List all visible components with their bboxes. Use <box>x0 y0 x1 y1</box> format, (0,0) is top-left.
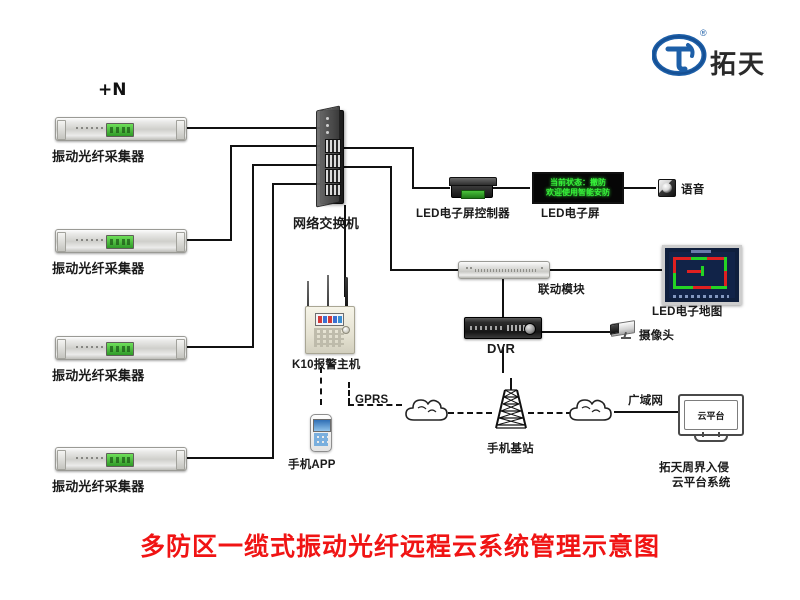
dvr-device[interactable] <box>464 317 542 339</box>
rack-ear-right <box>176 450 185 470</box>
base-station-icon <box>488 378 534 434</box>
collector-label-3: 振动光纤采集器 <box>52 365 144 384</box>
monitor-stand <box>694 436 728 442</box>
alarm-host-lcd <box>315 313 344 326</box>
switch-port-row-4 <box>325 184 341 196</box>
wire-collector2-seg1 <box>184 239 232 241</box>
wire-switch-link-seg3 <box>390 269 458 271</box>
network-switch-device[interactable] <box>320 110 344 204</box>
wire-ledctl-ledscreen <box>492 187 530 189</box>
collector-lcd-1 <box>106 123 134 137</box>
tuotian-logo-icon <box>652 32 708 78</box>
led-map-device[interactable] <box>662 245 742 305</box>
wire-collector4-seg2 <box>272 184 274 459</box>
collector-device-3[interactable] <box>55 336 187 360</box>
led-screen-device[interactable]: 当前状态：撤防 欢迎使用智能安防 <box>532 172 624 204</box>
led-screen-line2: 欢迎使用智能安防 <box>546 188 610 198</box>
monitor-screen-text: 云平台 <box>697 409 724 422</box>
dvr-display-strip <box>470 326 504 330</box>
cloud-icon-2 <box>568 392 616 430</box>
camera-lens <box>610 323 619 334</box>
collector-label-1: 振动光纤采集器 <box>52 146 144 165</box>
wire-switch-link-seg1 <box>342 166 392 168</box>
speaker-icon[interactable] <box>658 179 676 197</box>
cloud-platform-monitor[interactable]: 云平台 <box>678 394 740 440</box>
module-vent-strip <box>475 269 537 272</box>
cloud-platform-label-line1: 拓天周界入侵 <box>659 459 729 475</box>
cloud-platform-label-line2: 云平台系统 <box>672 474 731 490</box>
diagram-title: 多防区一缆式振动光纤远程云系统管理示意图 <box>0 527 800 563</box>
alarm-host-keypad[interactable] <box>314 328 344 347</box>
switch-port-row-2 <box>325 154 341 168</box>
wire-collector4-seg1 <box>184 457 274 459</box>
collector-label-4: 振动光纤采集器 <box>52 476 144 495</box>
alarm-host-device[interactable] <box>305 306 355 354</box>
dvr-jog-dial <box>524 323 536 335</box>
collector-device-4[interactable] <box>55 447 187 471</box>
wire-wan-monitor <box>614 411 678 413</box>
dvr-label: DVR <box>487 341 515 356</box>
map-title-bar <box>691 250 711 253</box>
controller-lid <box>449 177 497 186</box>
rack-ear-right <box>176 339 185 359</box>
map-legend-bar <box>673 295 729 298</box>
wire-alarmhost-phone-dashed <box>320 367 322 405</box>
collector-label-2: 振动光纤采集器 <box>52 258 144 277</box>
rack-ear-right <box>176 232 185 252</box>
led-controller-label: LED电子屏控制器 <box>416 205 510 221</box>
led-screen-line1: 当前状态：撤防 <box>550 178 606 188</box>
wire-dvr-camera <box>540 331 610 333</box>
rack-ear-left <box>57 339 66 359</box>
phone-app-device[interactable] <box>310 414 332 452</box>
voice-label: 语音 <box>681 181 704 197</box>
gprs-link-label: GPRS <box>355 394 388 406</box>
rack-ear-left <box>57 120 66 140</box>
collector-lcd-3 <box>106 342 134 356</box>
rack-ear-left <box>57 450 66 470</box>
base-station-label: 手机基站 <box>487 440 534 456</box>
controller-terminal-block <box>461 190 485 199</box>
diagram-canvas: ® 拓天 +N <box>0 0 800 600</box>
rack-ear-left <box>57 232 66 252</box>
phone-screen <box>313 419 331 432</box>
camera-base <box>621 337 631 339</box>
registered-mark: ® <box>700 28 707 38</box>
cloud-icon-1 <box>404 392 452 430</box>
collector-lcd-4 <box>106 453 134 467</box>
led-controller-device[interactable] <box>451 180 493 198</box>
wire-switch-ledctl-seg2 <box>412 147 414 188</box>
wan-link-label: 广域网 <box>628 392 663 408</box>
brand-name: 拓天 <box>710 44 766 81</box>
wire-collector3-seg1 <box>184 346 254 348</box>
wire-switch-ledctl-seg1 <box>342 147 414 149</box>
wire-link-dvr <box>502 277 504 317</box>
wire-ledscreen-voice <box>620 187 656 189</box>
led-screen-label: LED电子屏 <box>541 205 600 221</box>
plus-n-label: +N <box>98 80 126 100</box>
collector-device-2[interactable] <box>55 229 187 253</box>
linkage-module-label: 联动模块 <box>538 281 585 297</box>
rack-ear-right <box>176 120 185 140</box>
switch-port-row-1 <box>325 139 341 153</box>
wire-link-ledmap <box>548 269 662 271</box>
wire-collector3-seg2 <box>252 165 254 348</box>
switch-port-row-3 <box>325 169 341 183</box>
network-switch-label: 网络交换机 <box>293 213 359 232</box>
wire-gprs-vertical <box>348 382 350 404</box>
collector-device-1[interactable] <box>55 117 187 141</box>
camera-label: 摄像头 <box>639 327 674 343</box>
wire-tower-cloud2 <box>528 412 572 414</box>
collector-lcd-2 <box>106 235 134 249</box>
camera-icon[interactable] <box>609 320 637 340</box>
alarm-host-label: K10报警主机 <box>292 356 361 372</box>
led-map-label: LED电子地图 <box>652 303 722 319</box>
wire-collector2-seg3 <box>230 145 320 147</box>
monitor-screen: 云平台 <box>684 400 738 430</box>
wire-collector3-seg3 <box>252 164 320 166</box>
wire-switch-ledctl-seg3 <box>412 187 450 189</box>
wire-switch-link-seg2 <box>390 166 392 270</box>
wire-cloud1-tower <box>448 412 492 414</box>
alarm-host-indicator <box>342 326 350 334</box>
phone-keypad[interactable] <box>314 433 328 446</box>
wire-collector1-switch <box>184 127 320 129</box>
linkage-module-device[interactable] <box>458 261 550 279</box>
brand-logo: ® 拓天 <box>652 32 770 80</box>
monitor-frame: 云平台 <box>678 394 744 436</box>
wire-collector4-seg3 <box>272 183 320 185</box>
wire-collector2-seg2 <box>230 146 232 241</box>
phone-app-label: 手机APP <box>288 456 336 472</box>
